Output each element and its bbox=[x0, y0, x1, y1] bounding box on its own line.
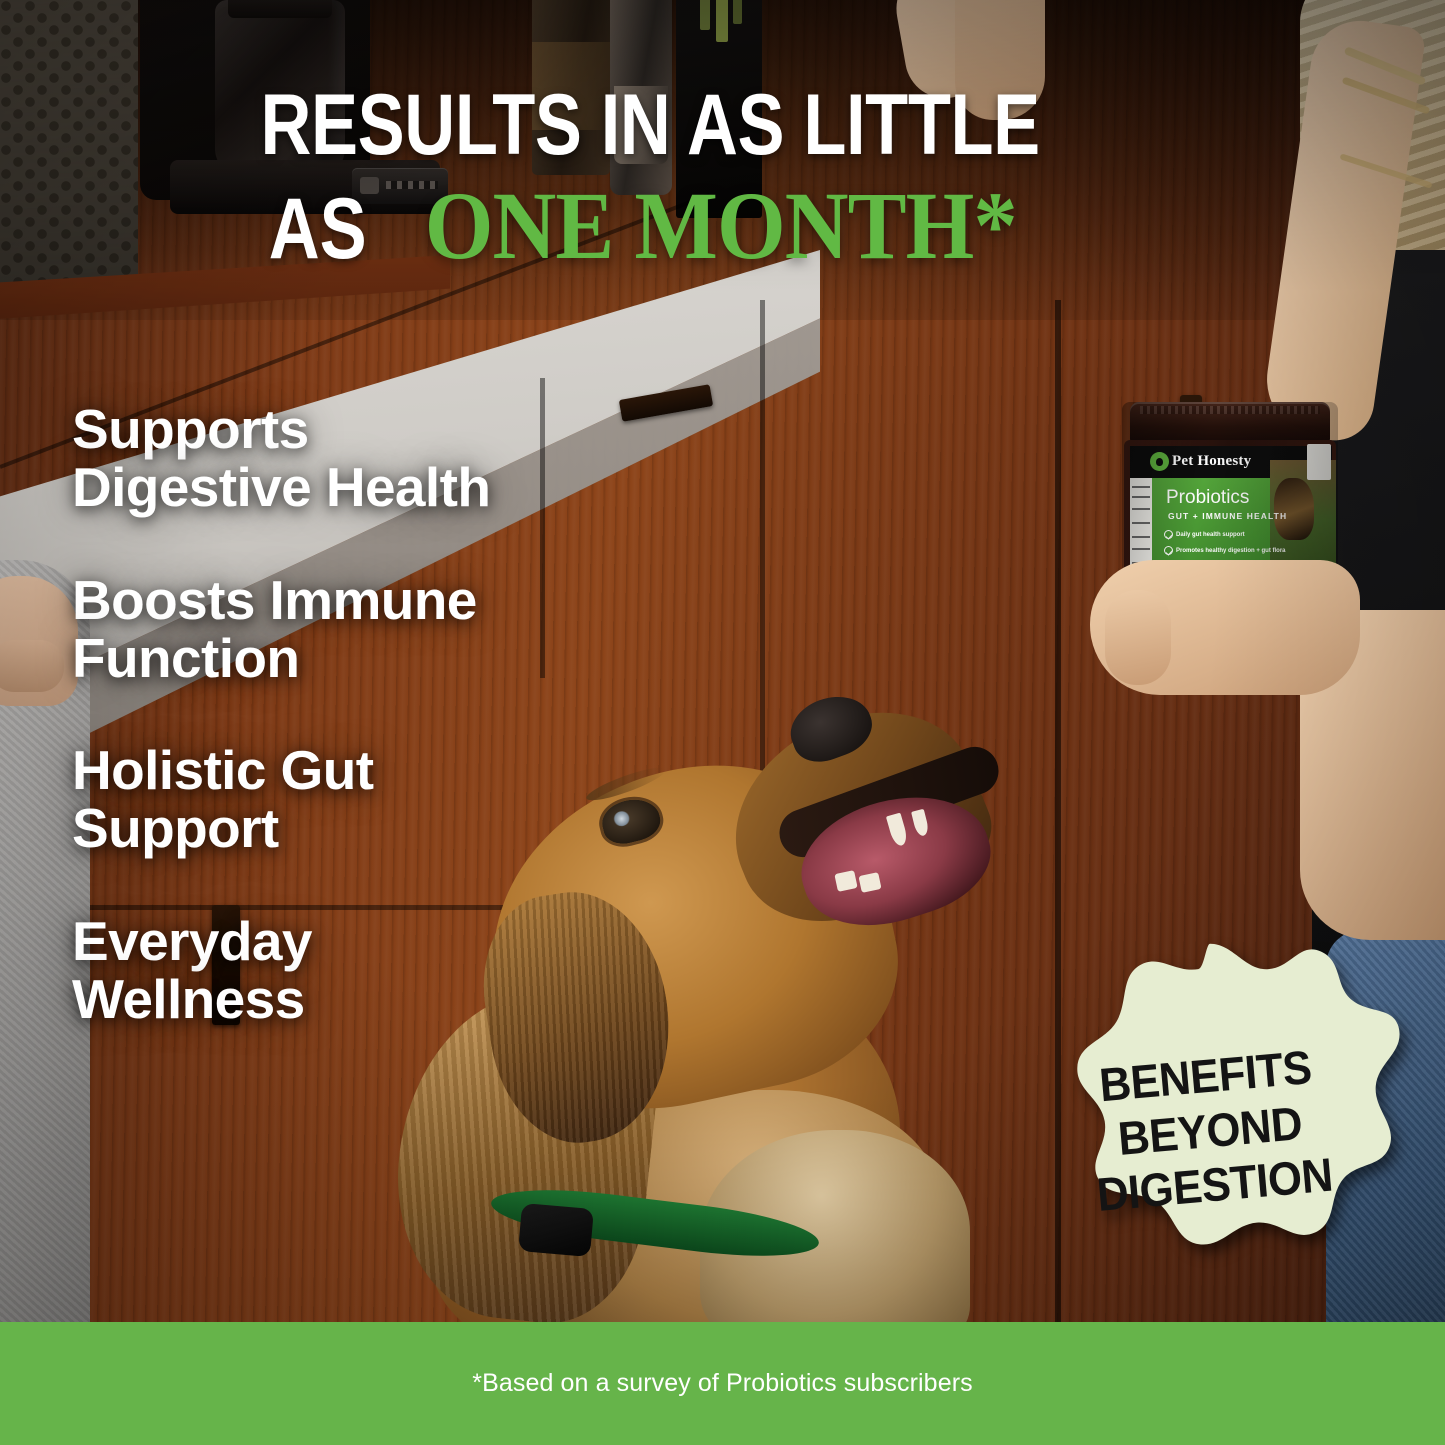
benefits-beyond-digestion-badge: BENEFITS BEYOND DIGESTION bbox=[1012, 936, 1408, 1326]
hand-finger bbox=[1105, 590, 1171, 685]
headline-block: RESULTS IN AS LITTLE AS ONE MONTH* bbox=[0, 84, 1300, 273]
check-icon bbox=[1164, 546, 1173, 555]
jar-natural-seal-badge bbox=[1307, 444, 1331, 480]
paw-logo-icon bbox=[1150, 452, 1169, 471]
jar-brand-name: Pet Honesty bbox=[1172, 454, 1251, 469]
benefit-item-immune-function: Boosts Immune Function bbox=[72, 571, 692, 688]
jar-bullet-2: Promotes healthy digestion + gut flora bbox=[1176, 548, 1286, 554]
footer-disclaimer-text: *Based on a survey of Probiotics subscri… bbox=[472, 1369, 972, 1398]
benefit-list: Supports Digestive Health Boosts Immune … bbox=[72, 400, 692, 1028]
headline-line-2-green: ONE MONTH* bbox=[425, 179, 1017, 272]
badge-text-group: BENEFITS BEYOND DIGESTION bbox=[996, 919, 1424, 1342]
collar-buckle bbox=[518, 1203, 594, 1257]
headline-line-2-white: AS bbox=[268, 188, 366, 271]
jar-lid bbox=[1130, 402, 1330, 444]
knife-handle-b bbox=[716, 0, 728, 42]
benefit-item-everyday-wellness: Everyday Wellness bbox=[72, 912, 692, 1029]
left-person-knuckles bbox=[0, 640, 64, 692]
coffee-maker-lid bbox=[228, 0, 332, 18]
jar-product-subtitle: GUT + IMMUNE HEALTH bbox=[1168, 512, 1287, 521]
footer-disclaimer-bar: *Based on a survey of Probiotics subscri… bbox=[0, 1322, 1445, 1445]
benefit-item-digestive-health: Supports Digestive Health bbox=[72, 400, 692, 517]
benefit-item-holistic-gut-support: Holistic Gut Support bbox=[72, 741, 692, 858]
check-icon bbox=[1164, 530, 1173, 539]
jar-bullet-1: Daily gut health support bbox=[1176, 532, 1245, 538]
headline-line-1: RESULTS IN AS LITTLE bbox=[260, 84, 1039, 167]
jar-product-title: Probiotics bbox=[1166, 488, 1249, 507]
product-infographic: Pet Honesty Probiotics GUT + IMMUNE HEAL… bbox=[0, 0, 1445, 1445]
knife-handle-c bbox=[733, 0, 742, 24]
knife-handle-a bbox=[700, 0, 710, 30]
